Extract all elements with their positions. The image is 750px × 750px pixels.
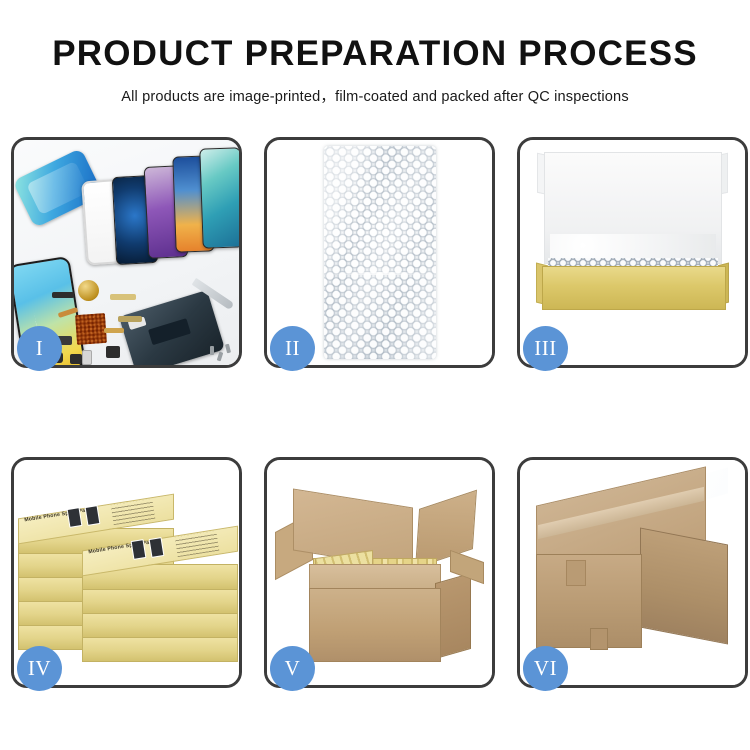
battery-part [82, 350, 92, 365]
phone-screen-teal [199, 147, 239, 248]
kraft-box-front [542, 266, 726, 310]
step-panel-6: VI [517, 457, 748, 688]
step-panel-1: I [11, 137, 242, 368]
step-panel-5: V [264, 457, 495, 688]
step-badge-3: III [523, 326, 568, 371]
carton-seam-tab [590, 628, 608, 650]
carton-side-panel [640, 527, 728, 644]
carton-front-panel [536, 554, 642, 648]
stacked-box [82, 636, 238, 662]
step-badge-1: I [17, 326, 62, 371]
step-badge-6: VI [523, 646, 568, 691]
box-label-phone-image [149, 537, 165, 558]
box-label-phone-image [85, 505, 101, 526]
screw [217, 352, 224, 362]
flex-cable [104, 328, 124, 333]
step-badge-4: IV [17, 646, 62, 691]
screw [225, 344, 231, 354]
stacked-box [82, 588, 238, 614]
bubble-wrap-pouch [324, 146, 436, 359]
step-badge-2: II [270, 326, 315, 371]
chip-part [106, 346, 120, 358]
flex-cable [118, 316, 142, 322]
step-panel-4: Mobile Phone Spare Parts Mobile Phone Sp… [11, 457, 242, 688]
carton-front-panel [309, 588, 441, 662]
box-label-phone-image [67, 507, 83, 528]
chip-part [52, 292, 74, 298]
copper-pad-grid [75, 313, 107, 345]
screw [210, 346, 214, 355]
steps-grid: I II [11, 137, 741, 688]
page-title: PRODUCT PREPARATION PROCESS [0, 34, 750, 74]
header: PRODUCT PREPARATION PROCESS All products… [0, 0, 750, 106]
page-subtitle: All products are image-printed，film-coat… [0, 85, 750, 106]
box-label-phone-image [131, 539, 147, 560]
product-preparation-infographic: PRODUCT PREPARATION PROCESS All products… [0, 0, 750, 750]
speaker-coil-part [78, 280, 99, 301]
chip-part [70, 354, 82, 364]
flex-cable [110, 294, 136, 300]
step-badge-5: V [270, 646, 315, 691]
carton-seam-tab [566, 560, 586, 586]
step-panel-2: II [264, 137, 495, 368]
step-panel-3: III [517, 137, 748, 368]
stacked-box [82, 612, 238, 638]
box-stack: Mobile Phone Spare Parts Mobile Phone Sp… [16, 476, 239, 676]
plastic-sheen [324, 146, 436, 359]
